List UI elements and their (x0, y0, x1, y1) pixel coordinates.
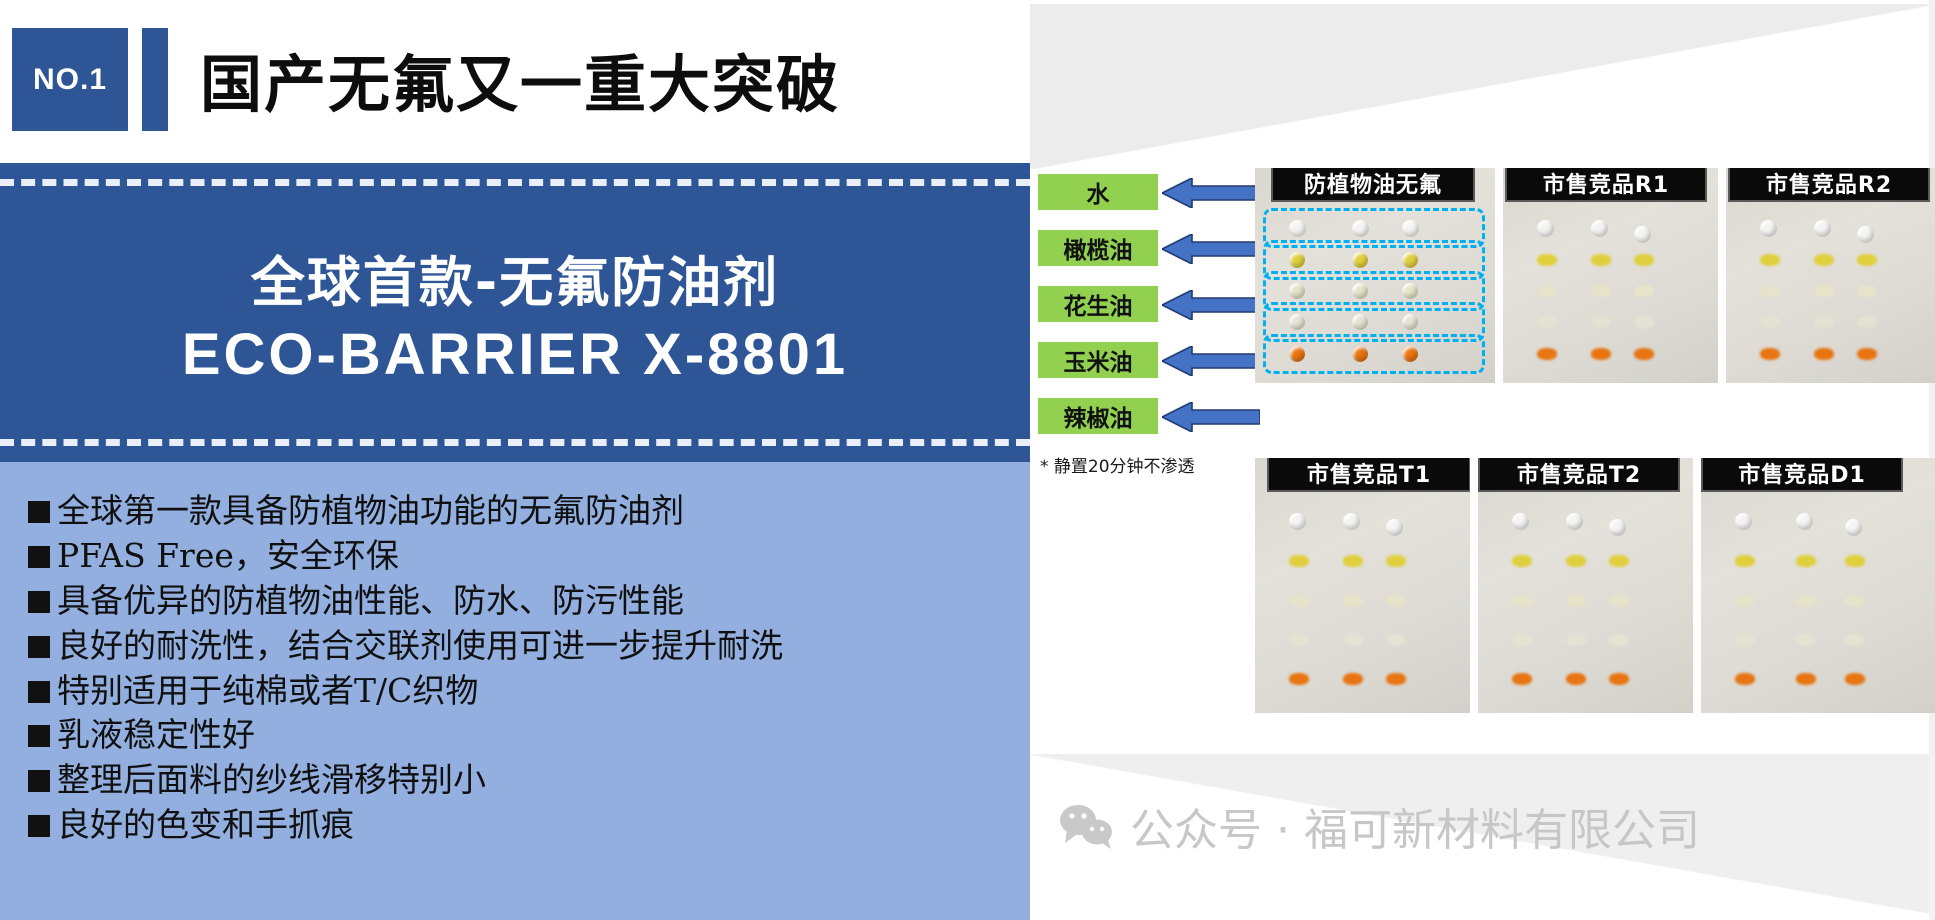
liquid-legend: 水橄榄油花生油玉米油辣椒油 (1038, 172, 1263, 452)
legend-row: 玉米油 (1038, 340, 1263, 391)
feature-bullet-label: PFAS Free，安全环保 (57, 535, 399, 578)
droplet-mark (1537, 316, 1557, 328)
test-panel: 市售竞品D1 (1701, 458, 1935, 713)
droplet-mark (1566, 513, 1583, 530)
droplet-mark (1796, 634, 1816, 646)
droplet-mark (1634, 348, 1654, 360)
droplet-mark (1814, 254, 1834, 266)
droplet-mark (1566, 673, 1586, 685)
decorative-triangle-top (1030, 4, 1935, 169)
droplet-mark (1857, 254, 1877, 266)
test-panel-caption: 市售竞品T2 (1480, 458, 1678, 490)
wechat-icon (1058, 802, 1116, 850)
legend-chip-5: 辣椒油 (1038, 398, 1158, 434)
droplet-mark (1845, 519, 1862, 536)
product-banner: 全球首款-无氟防油剂 ECO-BARRIER X-8801 (0, 163, 1030, 462)
feature-bullet-item: 特别适用于纯棉或者T/C织物 (28, 670, 1030, 713)
droplet-mark (1609, 519, 1626, 536)
droplet-mark (1512, 673, 1532, 685)
droplet-mark (1289, 595, 1309, 607)
droplet-mark (1814, 220, 1831, 237)
test-panel: 市售竞品T1 (1255, 458, 1470, 713)
test-panel: 防植物油无氟 (1255, 168, 1495, 383)
droplet-mark (1796, 595, 1816, 607)
highlight-box (1263, 334, 1485, 374)
droplet-mark (1735, 595, 1755, 607)
droplet-mark (1386, 555, 1406, 567)
droplet-mark (1386, 595, 1406, 607)
droplet-mark (1537, 348, 1557, 360)
test-panel-caption: 市售竞品R1 (1507, 168, 1705, 200)
bullet-square-icon (28, 681, 50, 703)
test-panel-row-top: 防植物油无氟市售竞品R1市售竞品R2 (1255, 168, 1935, 383)
test-panel-caption: 市售竞品R2 (1730, 168, 1928, 200)
banner-title-en: ECO-BARRIER X-8801 (182, 321, 848, 388)
feature-bullet-label: 全球第一款具备防植物油功能的无氟防油剂 (57, 490, 684, 533)
bullet-square-icon (28, 546, 50, 568)
droplet-mark (1634, 226, 1651, 243)
droplet-mark (1591, 285, 1611, 297)
left-arrow-icon (1162, 234, 1260, 264)
banner-title-cn: 全球首款-无氟防油剂 (251, 238, 779, 317)
droplet-mark (1814, 285, 1834, 297)
droplet-mark (1386, 673, 1406, 685)
droplet-mark (1796, 555, 1816, 567)
legend-chip-4: 玉米油 (1038, 342, 1158, 378)
legend-chip-1: 水 (1038, 174, 1158, 210)
header-band: NO.1 国产无氟又一重大突破 (0, 0, 1030, 160)
droplet-mark (1735, 673, 1755, 685)
panel-divider (1693, 458, 1701, 713)
left-arrow-icon (1162, 402, 1260, 432)
bullet-square-icon (28, 591, 50, 613)
droplet-mark (1845, 673, 1865, 685)
droplet-mark (1591, 254, 1611, 266)
droplet-mark (1634, 285, 1654, 297)
legend-row: 水 (1038, 172, 1263, 223)
feature-bullet-item: 良好的色变和手抓痕 (28, 804, 1030, 847)
droplet-mark (1857, 348, 1877, 360)
fabric-swatch-image (1255, 458, 1470, 713)
feature-bullet-item: PFAS Free，安全环保 (28, 535, 1030, 578)
no1-badge: NO.1 (12, 28, 128, 131)
feature-bullet-label: 乳液稳定性好 (57, 714, 255, 757)
test-panel: 市售竞品R2 (1726, 168, 1935, 383)
feature-bullet-list: 全球第一款具备防植物油功能的无氟防油剂 PFAS Free，安全环保具备优异的防… (0, 462, 1030, 920)
bullet-square-icon (28, 725, 50, 747)
feature-bullet-item: 乳液稳定性好 (28, 714, 1030, 757)
bullet-square-icon (28, 501, 50, 523)
droplet-mark (1634, 254, 1654, 266)
droplet-mark (1634, 316, 1654, 328)
legend-chip-2: 橄榄油 (1038, 230, 1158, 266)
footnote-text: * 静置20分钟不渗透 (1040, 452, 1270, 477)
droplet-mark (1760, 220, 1777, 237)
droplet-mark (1735, 513, 1752, 530)
feature-bullet-label: 良好的耐洗性，结合交联剂使用可进一步提升耐洗 (57, 625, 783, 668)
droplet-mark (1343, 555, 1363, 567)
fabric-swatch-image (1478, 458, 1693, 713)
droplet-mark (1845, 555, 1865, 567)
droplet-mark (1537, 254, 1557, 266)
right-visual-column: 水橄榄油花生油玉米油辣椒油 * 静置20分钟不渗透 防植物油无氟市售竞品R1市售… (1030, 0, 1935, 920)
bullet-square-icon (28, 770, 50, 792)
panel-divider (1495, 168, 1503, 383)
droplet-mark (1566, 595, 1586, 607)
droplet-mark (1512, 634, 1532, 646)
droplet-mark (1609, 595, 1629, 607)
test-panel: 市售竞品R1 (1503, 168, 1718, 383)
feature-bullet-item: 具备优异的防植物油性能、防水、防污性能 (28, 580, 1030, 623)
bullet-square-icon (28, 815, 50, 837)
droplet-mark (1857, 226, 1874, 243)
droplet-mark (1760, 348, 1780, 360)
droplet-mark (1591, 316, 1611, 328)
legend-chip-3: 花生油 (1038, 286, 1158, 322)
left-arrow-icon (1162, 346, 1260, 376)
test-panel-caption: 市售竞品D1 (1703, 458, 1901, 490)
droplet-mark (1735, 555, 1755, 567)
feature-bullet-item: 全球第一款具备防植物油功能的无氟防油剂 (28, 490, 1030, 533)
droplet-mark (1591, 220, 1608, 237)
droplet-mark (1857, 316, 1877, 328)
legend-row: 花生油 (1038, 284, 1263, 335)
droplet-mark (1537, 220, 1554, 237)
bullet-square-icon (28, 636, 50, 658)
feature-bullet-label: 具备优异的防植物油性能、防水、防污性能 (57, 580, 684, 623)
droplet-mark (1512, 555, 1532, 567)
feature-bullet-item: 整理后面料的纱线滑移特别小 (28, 759, 1030, 802)
droplet-mark (1735, 634, 1755, 646)
droplet-mark (1609, 634, 1629, 646)
droplet-mark (1537, 285, 1557, 297)
test-panel: 市售竞品T2 (1478, 458, 1693, 713)
watermark-text: 公众号 · 福可新材料有限公司 (1130, 794, 1700, 858)
droplet-mark (1814, 316, 1834, 328)
droplet-mark (1760, 316, 1780, 328)
feature-bullet-label: 良好的色变和手抓痕 (57, 804, 354, 847)
droplet-mark (1289, 634, 1309, 646)
droplet-mark (1566, 634, 1586, 646)
droplet-mark (1343, 513, 1360, 530)
watermark: 公众号 · 福可新材料有限公司 (1058, 794, 1700, 858)
droplet-mark (1512, 513, 1529, 530)
droplet-mark (1857, 285, 1877, 297)
droplet-mark (1609, 673, 1629, 685)
droplet-mark (1289, 555, 1309, 567)
droplet-mark (1814, 348, 1834, 360)
test-panel-row-bottom: 市售竞品T1市售竞品T2市售竞品D1 (1255, 458, 1935, 713)
page-title: 国产无氟又一重大突破 (200, 24, 990, 134)
droplet-mark (1760, 285, 1780, 297)
legend-row: 辣椒油 (1038, 396, 1263, 447)
droplet-mark (1796, 673, 1816, 685)
test-panel-caption: 防植物油无氟 (1273, 168, 1473, 200)
header-accent-bar (142, 28, 168, 131)
droplet-mark (1566, 555, 1586, 567)
slide-canvas: NO.1 国产无氟又一重大突破 全球首款-无氟防油剂 ECO-BARRIER X… (0, 0, 1935, 920)
droplet-mark (1512, 595, 1532, 607)
droplet-mark (1845, 634, 1865, 646)
feature-bullet-label: 特别适用于纯棉或者T/C织物 (57, 670, 478, 713)
droplet-mark (1289, 513, 1306, 530)
test-panel-caption: 市售竞品T1 (1269, 458, 1469, 490)
droplet-mark (1343, 673, 1363, 685)
legend-row: 橄榄油 (1038, 228, 1263, 279)
droplet-mark (1591, 348, 1611, 360)
feature-bullet-label: 整理后面料的纱线滑移特别小 (57, 759, 486, 802)
droplet-mark (1796, 513, 1813, 530)
panel-divider (1470, 458, 1478, 713)
panel-divider (1718, 168, 1726, 383)
left-arrow-icon (1162, 178, 1260, 208)
droplet-mark (1609, 555, 1629, 567)
droplet-mark (1760, 254, 1780, 266)
left-content-column: NO.1 国产无氟又一重大突破 全球首款-无氟防油剂 ECO-BARRIER X… (0, 0, 1030, 920)
left-arrow-icon (1162, 290, 1260, 320)
droplet-mark (1845, 595, 1865, 607)
droplet-mark (1343, 634, 1363, 646)
droplet-mark (1289, 673, 1309, 685)
feature-bullet-item: 良好的耐洗性，结合交联剂使用可进一步提升耐洗 (28, 625, 1030, 668)
droplet-mark (1386, 634, 1406, 646)
droplet-mark (1386, 519, 1403, 536)
droplet-mark (1343, 595, 1363, 607)
